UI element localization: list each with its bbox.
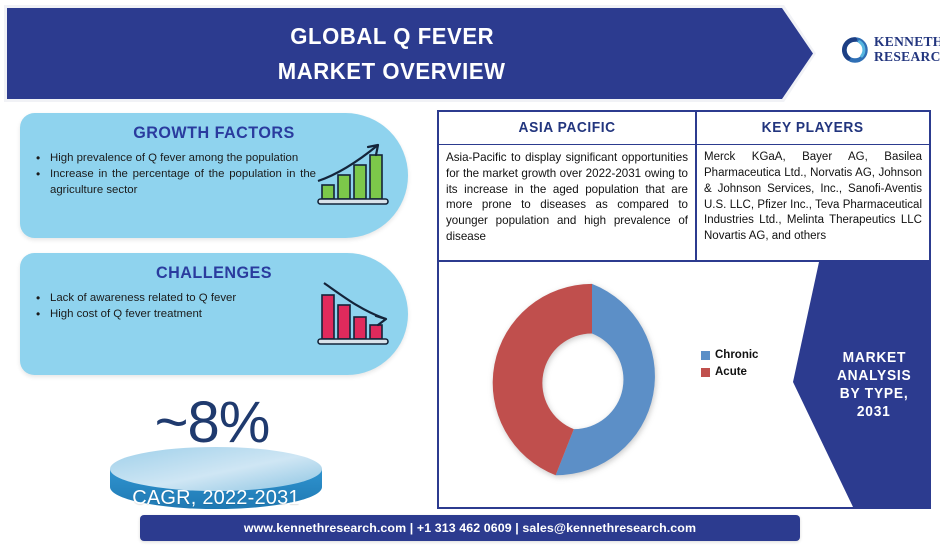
page-title-line1: GLOBAL Q FEVER — [290, 19, 494, 53]
asia-pacific-body: Asia-Pacific to display significant oppo… — [439, 145, 695, 249]
legend-item-acute: Acute — [701, 366, 758, 378]
cagr-value: ~8% — [92, 389, 332, 456]
list-item: High prevalence of Q fever among the pop… — [34, 151, 316, 166]
right-panel: ASIA PACIFIC Asia-Pacific to display sig… — [437, 110, 931, 509]
key-players-title: KEY PLAYERS — [762, 120, 864, 136]
challenges-panel: CHALLENGES Lack of awareness related to … — [20, 253, 408, 375]
chart-legend: Chronic Acute — [701, 349, 758, 378]
header-banner-fill: GLOBAL Q FEVER MARKET OVERVIEW — [7, 8, 813, 99]
challenges-list: Lack of awareness related to Q fever Hig… — [34, 291, 316, 323]
brand-logo: KENNETH RESEARCH — [840, 26, 936, 74]
donut-chart — [483, 274, 701, 492]
legend-swatch-acute — [701, 368, 710, 377]
cagr-indicator: ~8% CAGR, 2022-2031 — [92, 393, 332, 511]
footer-bar: www.kennethresearch.com | +1 313 462 060… — [140, 515, 800, 541]
key-players-body: Merck KGaA, Bayer AG, Basilea Pharmaceut… — [697, 145, 929, 249]
legend-item-chronic: Chronic — [701, 349, 758, 361]
chevron-line-2: ANALYSIS — [837, 368, 911, 384]
growth-factors-panel: GROWTH FACTORS High prevalence of Q feve… — [20, 113, 408, 238]
chevron-line-4: 2031 — [857, 404, 891, 420]
infographic-page: GLOBAL Q FEVER MARKET OVERVIEW KENNETH R… — [0, 0, 940, 554]
asia-pacific-title: ASIA PACIFIC — [518, 120, 615, 136]
circular-swirl-icon — [840, 35, 870, 65]
asia-pacific-header: ASIA PACIFIC — [439, 112, 695, 145]
chevron-line-3: BY TYPE, — [840, 386, 909, 402]
list-item: Lack of awareness related to Q fever — [34, 291, 316, 306]
top-info-boxes: ASIA PACIFIC Asia-Pacific to display sig… — [439, 112, 929, 262]
legend-label-chronic: Chronic — [715, 349, 758, 361]
key-players-box: KEY PLAYERS Merck KGaA, Bayer AG, Basile… — [697, 112, 929, 260]
falling-bar-chart-icon — [316, 279, 390, 354]
growth-factors-list: High prevalence of Q fever among the pop… — [34, 151, 316, 198]
chart-area: Chronic Acute MARKET ANALYSIS BY TYPE, 2… — [439, 262, 929, 507]
legend-label-acute: Acute — [715, 366, 747, 378]
chevron-line-1: MARKET — [842, 350, 905, 366]
header-banner: GLOBAL Q FEVER MARKET OVERVIEW — [4, 5, 816, 102]
page-title-line2: MARKET OVERVIEW — [278, 54, 506, 88]
footer-contact-text: www.kennethresearch.com | +1 313 462 060… — [244, 521, 696, 535]
list-item: Increase in the percentage of the popula… — [34, 167, 316, 198]
chart-title-chevron: MARKET ANALYSIS BY TYPE, 2031 — [793, 262, 929, 507]
brand-name-line2: RESEARCH — [874, 50, 940, 65]
brand-name: KENNETH RESEARCH — [874, 35, 940, 64]
legend-swatch-chronic — [701, 351, 710, 360]
brand-name-line1: KENNETH — [874, 35, 940, 50]
asia-pacific-box: ASIA PACIFIC Asia-Pacific to display sig… — [439, 112, 697, 260]
cagr-label: CAGR, 2022-2031 — [110, 487, 322, 510]
list-item: High cost of Q fever treatment — [34, 307, 316, 322]
key-players-header: KEY PLAYERS — [697, 112, 929, 145]
rising-bar-chart-icon — [316, 139, 390, 214]
